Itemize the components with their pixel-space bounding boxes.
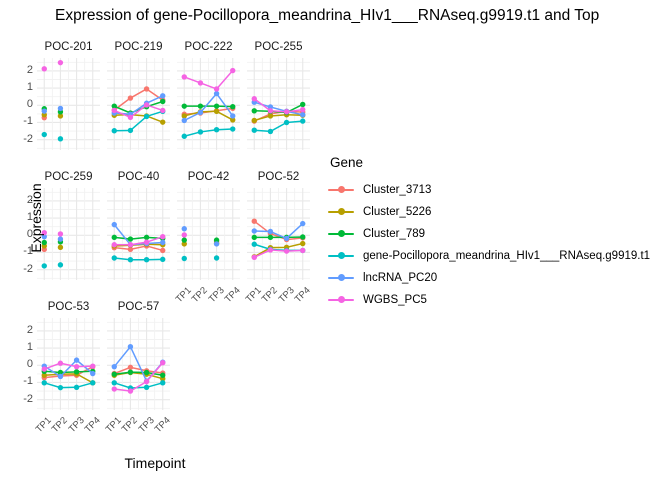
facet-panel: POC-53 (37, 301, 100, 410)
y-axis-tick-label: 2 (27, 195, 33, 206)
y-axis-tick-label: 1 (27, 82, 33, 93)
facet-strip-label: POC-255 (247, 41, 310, 53)
legend-item: Cluster_3713 (328, 179, 672, 201)
facet-panel: POC-40 (107, 171, 170, 280)
legend-key-icon (328, 204, 354, 220)
legend-item: Cluster_5226 (328, 201, 672, 223)
facet-strip-label: POC-201 (37, 41, 100, 53)
panel-plot (37, 58, 100, 150)
y-axis-tick-label: -1 (23, 376, 33, 387)
x-axis-title: Timepoint (60, 455, 250, 471)
legend: Gene Cluster_3713Cluster_5226Cluster_789… (328, 155, 672, 311)
facet-panel: POC-222 (177, 41, 240, 150)
y-axis-tick-label: 2 (27, 65, 33, 76)
legend-key-icon (328, 182, 354, 198)
y-axis-tick-label: 0 (27, 99, 33, 110)
legend-item-label: Cluster_3713 (363, 184, 431, 196)
facet-panel: POC-219 (107, 41, 170, 150)
y-axis-tick-label: -2 (23, 394, 33, 405)
legend-key-icon (328, 226, 354, 242)
facet-strip-label: POC-259 (37, 171, 100, 183)
facet-strip-label: POC-222 (177, 41, 240, 53)
facet-panel: POC-52 (247, 171, 310, 280)
legend-key-icon (328, 248, 354, 264)
y-axis-tick-label: 2 (27, 325, 33, 336)
facet-strip-label: POC-219 (107, 41, 170, 53)
legend-key-icon (328, 270, 354, 286)
legend-item-label: Cluster_5226 (363, 206, 431, 218)
legend-title: Gene (330, 155, 672, 170)
panel-plot (37, 188, 100, 280)
facet-panel: POC-42 (177, 171, 240, 280)
y-axis-tick-label: -1 (23, 116, 33, 127)
facet-panel: POC-255 (247, 41, 310, 150)
facet-strip-label: POC-40 (107, 171, 170, 183)
y-axis-tick-label: 1 (27, 212, 33, 223)
panel-plot (177, 58, 240, 150)
panel-plot (107, 58, 170, 150)
panel-plot (247, 58, 310, 150)
y-axis-tick-label: 1 (27, 342, 33, 353)
legend-item: lncRNA_PC20 (328, 267, 672, 289)
panel-plot (107, 318, 170, 410)
y-axis-tick-label: -2 (23, 134, 33, 145)
panel-plot (177, 188, 240, 280)
legend-item: gene-Pocillopora_meandrina_HIv1___RNAseq… (328, 245, 672, 267)
panel-plot (247, 188, 310, 280)
legend-item-label: gene-Pocillopora_meandrina_HIv1___RNAseq… (363, 250, 650, 262)
facet-panel: POC-259 (37, 171, 100, 280)
y-axis-tick-label: 0 (27, 359, 33, 370)
legend-items: Cluster_3713Cluster_5226Cluster_789gene-… (328, 179, 672, 311)
legend-item-label: lncRNA_PC20 (363, 272, 437, 284)
legend-item-label: Cluster_789 (363, 228, 425, 240)
y-axis-tick-label: -2 (23, 264, 33, 275)
facet-strip-label: POC-42 (177, 171, 240, 183)
facet-panel: POC-201 (37, 41, 100, 150)
facet-strip-label: POC-52 (247, 171, 310, 183)
legend-item-label: WGBS_PC5 (363, 294, 427, 306)
y-axis-tick-label: 0 (27, 229, 33, 240)
facet-strip-label: POC-57 (107, 301, 170, 313)
facet-panel: POC-57 (107, 301, 170, 410)
y-axis-tick-label: -1 (23, 246, 33, 257)
panel-plot (37, 318, 100, 410)
legend-item: Cluster_789 (328, 223, 672, 245)
legend-item: WGBS_PC5 (328, 289, 672, 311)
facet-strip-label: POC-53 (37, 301, 100, 313)
legend-key-icon (328, 292, 354, 308)
panel-plot (107, 188, 170, 280)
